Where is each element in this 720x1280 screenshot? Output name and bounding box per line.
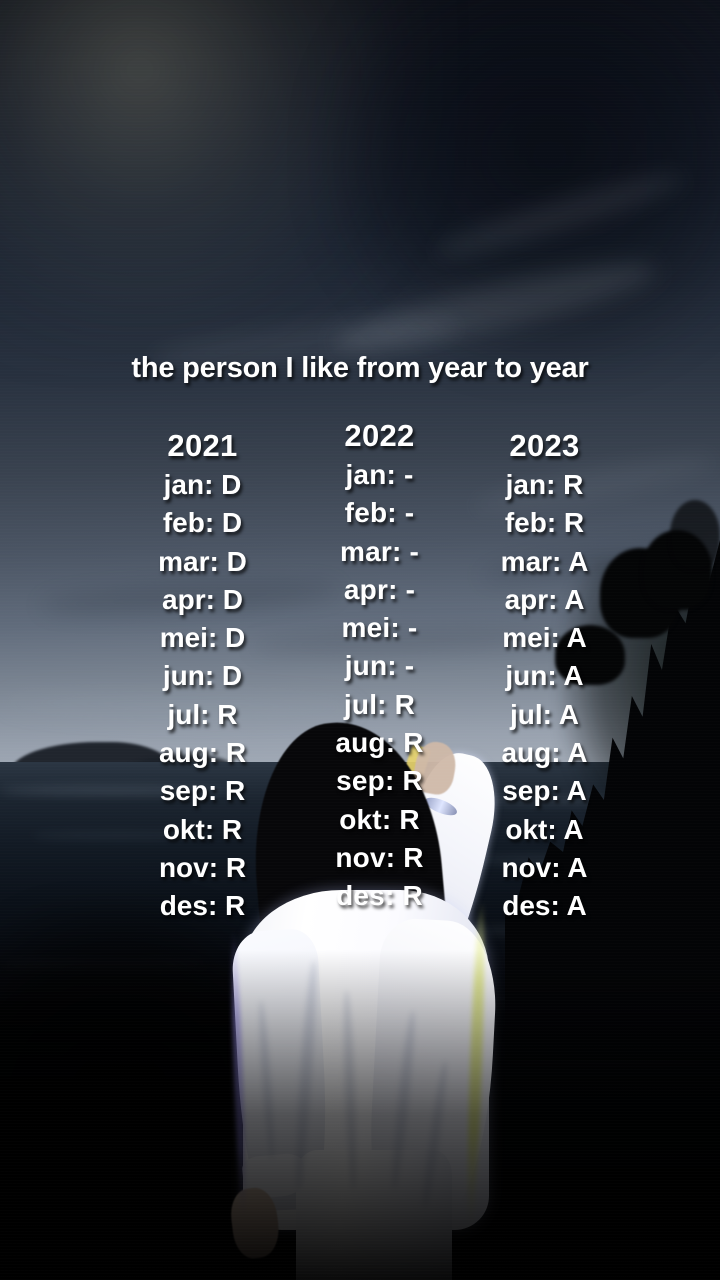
month-entry: jul: A xyxy=(462,696,627,734)
month-entry: jul: R xyxy=(120,696,285,734)
month-entry: apr: - xyxy=(297,571,462,609)
month-entry: feb: D xyxy=(120,504,285,542)
month-entry: mei: A xyxy=(462,619,627,657)
month-entry: nov: R xyxy=(120,849,285,887)
month-entry: nov: R xyxy=(297,839,462,877)
month-entry: jan: D xyxy=(120,466,285,504)
month-entry: jul: R xyxy=(297,686,462,724)
month-entry: des: R xyxy=(120,887,285,925)
video-frame: the person I like from year to year 2021… xyxy=(0,0,720,1280)
month-entry: okt: A xyxy=(462,811,627,849)
month-list: jan: Rfeb: Rmar: Aapr: Amei: Ajun: Ajul:… xyxy=(462,466,627,926)
month-entry: feb: - xyxy=(297,494,462,532)
month-entry: sep: R xyxy=(120,772,285,810)
month-entry: mei: - xyxy=(297,609,462,647)
month-entry: mar: D xyxy=(120,543,285,581)
month-entry: mar: - xyxy=(297,533,462,571)
year-column-2023: 2023 jan: Rfeb: Rmar: Aapr: Amei: Ajun: … xyxy=(462,428,627,926)
month-entry: jun: - xyxy=(297,647,462,685)
month-list: jan: Dfeb: Dmar: Dapr: Dmei: Djun: Djul:… xyxy=(120,466,285,926)
text-overlay: the person I like from year to year 2021… xyxy=(0,0,720,1280)
month-entry: aug: R xyxy=(120,734,285,772)
year-heading: 2023 xyxy=(462,428,627,464)
month-entry: aug: A xyxy=(462,734,627,772)
month-entry: mar: A xyxy=(462,543,627,581)
month-entry: jun: A xyxy=(462,657,627,695)
year-heading: 2022 xyxy=(297,418,462,454)
month-entry: jan: R xyxy=(462,466,627,504)
month-entry: sep: R xyxy=(297,762,462,800)
overlay-title: the person I like from year to year xyxy=(0,352,720,385)
month-entry: okt: R xyxy=(120,811,285,849)
month-entry: aug: R xyxy=(297,724,462,762)
month-entry: sep: A xyxy=(462,772,627,810)
year-column-2022: 2022 jan: -feb: -mar: -apr: -mei: -jun: … xyxy=(297,418,462,916)
year-columns: 2021 jan: Dfeb: Dmar: Dapr: Dmei: Djun: … xyxy=(0,424,720,924)
year-heading: 2021 xyxy=(120,428,285,464)
month-entry: okt: R xyxy=(297,801,462,839)
month-entry: nov: A xyxy=(462,849,627,887)
month-entry: des: R xyxy=(297,877,462,915)
month-entry: mei: D xyxy=(120,619,285,657)
month-entry: apr: A xyxy=(462,581,627,619)
month-entry: feb: R xyxy=(462,504,627,542)
month-entry: jun: D xyxy=(120,657,285,695)
year-column-2021: 2021 jan: Dfeb: Dmar: Dapr: Dmei: Djun: … xyxy=(120,428,285,926)
month-list: jan: -feb: -mar: -apr: -mei: -jun: -jul:… xyxy=(297,456,462,916)
month-entry: apr: D xyxy=(120,581,285,619)
month-entry: des: A xyxy=(462,887,627,925)
month-entry: jan: - xyxy=(297,456,462,494)
